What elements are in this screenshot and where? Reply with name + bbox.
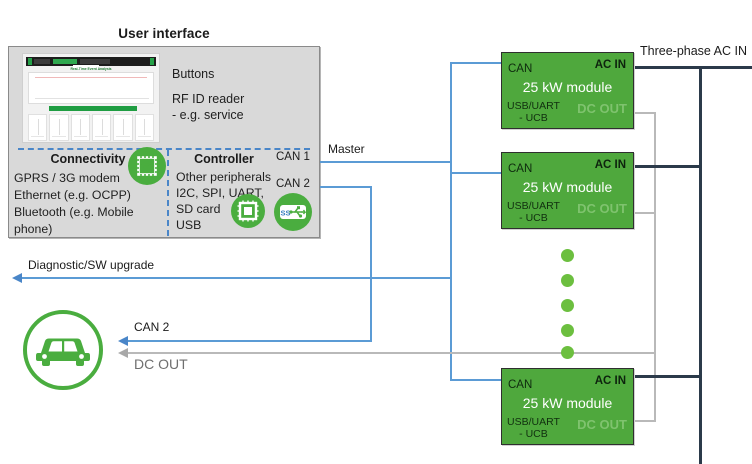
buttons-label: Buttons [172,65,214,84]
module-ac-in-port: AC IN [595,375,626,387]
ellipsis-dot [561,346,574,359]
master-label: Master [328,142,365,156]
controller-heading: Controller [174,152,274,166]
ellipsis-dot [561,249,574,262]
diagnostic-arrowhead [12,273,22,283]
module-can-port: CAN [508,163,532,175]
dc-out-wire-to-vehicle [128,352,656,354]
wifi-chip-icon [128,147,166,185]
controller-line-peripherals: Other peripherals [176,169,271,186]
controller-line-sdcard: SD card [176,201,220,218]
diagram-canvas: User interface Real-Time Event Analysis … [0,0,752,464]
can2-arrowhead [118,336,128,346]
can2-vehicle-label: CAN 2 [134,320,169,334]
connectivity-line-bluetooth: Bluetooth (e.g. Mobile phone) [14,204,172,238]
dc-out-vehicle-label: DC OUT [134,356,188,372]
can1-label: CAN 1 [276,151,310,163]
thumbnail-small-chart [28,114,47,141]
ac-in-wire-module-2 [635,165,701,168]
rfid-reader-note: - e.g. service [172,106,244,125]
module-usb-uart-line2: - UCB [519,212,548,224]
module-usb-uart-line1: USB/UART [507,200,560,212]
module-title: 25 kW module [502,79,633,95]
thumbnail-small-chart [49,114,68,141]
dc-out-stub-module-3 [635,420,656,422]
can-branch-module-3 [450,379,502,381]
module-25kw-1[interactable]: CAN AC IN 25 kW module USB/UART - UCB DC… [501,52,634,129]
dc-out-arrowhead [118,348,128,358]
thumbnail-chart-title: Real-Time Event Analysis [23,67,159,71]
electric-vehicle-icon [23,310,103,390]
module-usb-uart-port: USB/UART - UCB [507,201,560,225]
can-branch-module-1 [450,62,502,64]
module-usb-uart-line1: USB/UART [507,100,560,112]
module-usb-uart-port: USB/UART - UCB [507,101,560,125]
thumbnail-main-chart [28,72,154,104]
thumbnail-small-chart [71,114,90,141]
master-can-wire [320,161,452,163]
dashboard-screenshot-thumbnail: Real-Time Event Analysis [22,53,160,143]
diagnostic-label: Diagnostic/SW upgrade [28,258,154,272]
thumbnail-green-status-bar [49,106,137,111]
can2-wire-from-controller [320,186,372,188]
module-25kw-3[interactable]: CAN AC IN 25 kW module USB/UART - UCB DC… [501,368,634,445]
user-interface-title: User interface [8,26,320,41]
can-bus-trunk-lower [450,311,452,381]
module-usb-uart-line1: USB/UART [507,416,560,428]
module-title: 25 kW module [502,395,633,411]
dc-out-stub-module-2 [635,212,656,214]
ac-in-vertical-bus [699,66,702,464]
can-branch-module-2 [450,172,502,174]
module-dc-out-port: DC OUT [577,417,627,432]
module-can-port: CAN [508,63,532,75]
ellipsis-dot [561,274,574,287]
ellipsis-dot [561,324,574,337]
module-can-port: CAN [508,379,532,391]
diagnostic-wire [22,277,452,279]
connectivity-line-ethernet: Ethernet (e.g. OCPP) [14,187,172,204]
panel-horizontal-divider [18,148,310,150]
module-usb-uart-port: USB/UART - UCB [507,417,560,441]
module-ac-in-port: AC IN [595,159,626,171]
module-dc-out-port: DC OUT [577,201,627,216]
module-dc-out-port: DC OUT [577,101,627,116]
thumbnail-small-chart [135,114,154,141]
svg-text:SS: SS [280,209,290,218]
module-title: 25 kW module [502,179,633,195]
usb-superspeed-icon: SS [274,193,312,231]
ac-in-wire-module-3 [635,375,701,378]
dc-out-stub-module-1 [635,112,656,114]
module-ac-in-port: AC IN [595,59,626,71]
module-usb-uart-line2: - UCB [519,428,548,440]
ellipsis-dot [561,299,574,312]
module-usb-uart-line2: - UCB [519,112,548,124]
can-bus-trunk [450,62,452,311]
microcontroller-chip-icon [231,194,265,228]
three-phase-ac-in-label: Three-phase AC IN [640,44,747,58]
thumbnail-small-chart [92,114,111,141]
ac-in-wire-module-1 [635,66,752,69]
controller-line-usb: USB [176,217,201,234]
thumbnail-small-chart [113,114,132,141]
module-25kw-2[interactable]: CAN AC IN 25 kW module USB/UART - UCB DC… [501,152,634,229]
can2-label: CAN 2 [276,178,310,190]
can2-wire-vertical [370,186,372,342]
can2-wire-to-vehicle [128,340,372,342]
thumbnail-small-charts-row [28,114,154,141]
